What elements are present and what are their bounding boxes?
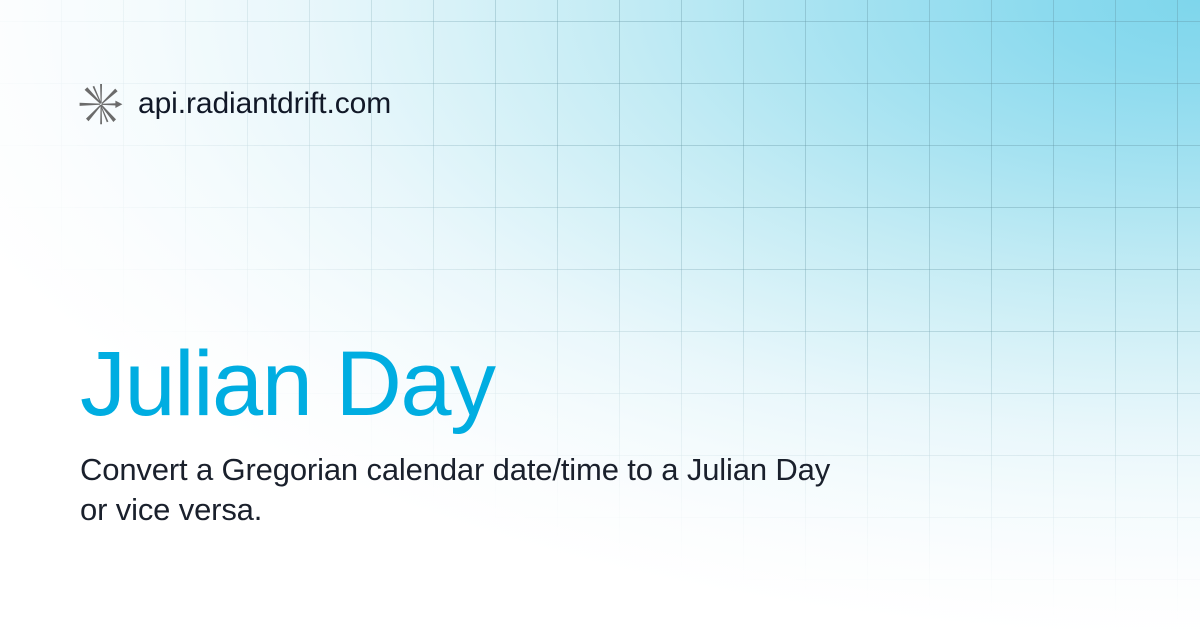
hero-text-block: Julian Day Convert a Gregorian calendar … [80, 336, 920, 530]
starburst-icon [78, 81, 124, 127]
page-description: Convert a Gregorian calendar date/time t… [80, 450, 850, 530]
brand-name: api.radiantdrift.com [138, 86, 391, 122]
brand-header: api.radiantdrift.com [78, 80, 391, 128]
page-title: Julian Day [80, 336, 920, 432]
og-card: api.radiantdrift.com Julian Day Convert … [0, 0, 1200, 630]
